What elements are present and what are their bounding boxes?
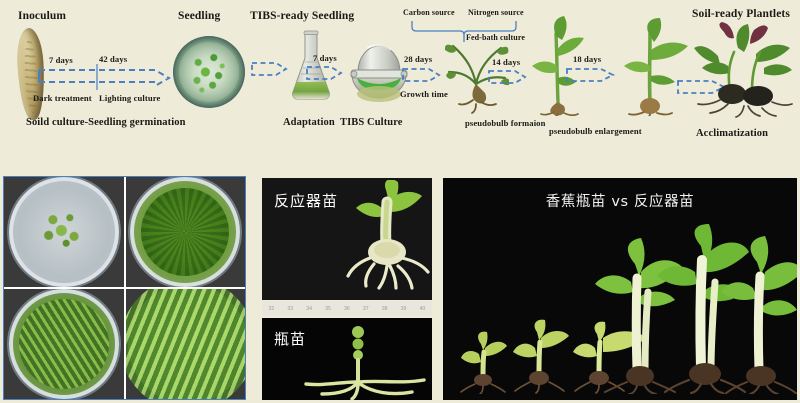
ruler-tick: 40 <box>420 306 426 312</box>
caption-pseudobulb-enlargement: pseudobulb enlargement <box>549 126 642 136</box>
comparison-plant-row <box>443 178 797 400</box>
plantlet-photo-pseudobulb-enlargement <box>620 18 690 116</box>
scale-ruler: 32 33 34 35 36 37 38 39 40 <box>262 301 432 316</box>
photo-panels: 反应器苗 32 33 34 <box>0 160 800 403</box>
duration-adaptation: 7 days <box>313 53 337 63</box>
dish-grid <box>4 177 245 399</box>
treatment-dark: Dark treatment <box>33 93 92 103</box>
label-nitrogen-source: Nitrogen source <box>468 8 524 17</box>
ruler-tick: 38 <box>382 306 388 312</box>
arrow-germination <box>37 64 173 92</box>
ruler-tick: 33 <box>287 306 293 312</box>
arrow-tibs-transfer <box>305 64 345 82</box>
dish-cell-stage-4 <box>126 289 246 399</box>
stage-label-seedling: Seedling <box>178 10 220 22</box>
ruler-tick: 35 <box>325 306 331 312</box>
bottle-seedling-photo <box>302 324 432 400</box>
comparison-panel: 香蕉瓶苗 vs 反应器苗 <box>443 178 797 400</box>
arrow-growth <box>401 66 443 84</box>
reactor-seedling-photo <box>340 180 432 298</box>
plantlet-small-1 <box>457 326 513 394</box>
culture-dish-photo <box>130 177 240 287</box>
culture-dish-panel <box>3 176 246 400</box>
arrow-enlargement <box>565 66 617 84</box>
treatment-lighting: Lighting culture <box>99 93 160 103</box>
bottle-seedling-panel: 瓶苗 <box>262 318 432 400</box>
caption-pseudobulb-formation: pseudobulb formaion <box>465 118 545 128</box>
dish-cell-stage-1 <box>4 177 124 287</box>
workflow-panel: Inoculum 7 days 42 days Dark treatment L… <box>0 0 800 160</box>
caption-acclimatization: Acclimatization <box>696 128 768 139</box>
duration-lighting-culture: 42 days <box>99 54 127 64</box>
culture-dish-photo <box>9 177 119 287</box>
duration-growth-time: 28 days <box>404 54 432 64</box>
duration-enlargement: 18 days <box>573 54 601 64</box>
ruler-tick: 34 <box>306 306 312 312</box>
dish-cell-stage-2 <box>126 177 246 287</box>
plantlet-large-3 <box>717 234 797 394</box>
dish-cell-stage-3 <box>4 289 124 399</box>
arrow-formation <box>487 68 529 86</box>
duration-formation: 14 days <box>492 57 520 67</box>
label-carbon-source: Carbon source <box>403 8 455 17</box>
soil-ready-plantlets-photo <box>694 22 794 123</box>
caption-adaptation: Adaptation <box>283 117 335 128</box>
reactor-seedling-panel: 反应器苗 <box>262 178 432 300</box>
seedling-dish-photo <box>173 36 245 108</box>
stage-label-soil-ready: Soil-ready Plantlets <box>692 8 790 20</box>
stage-label-inoculum: Inoculum <box>18 10 66 22</box>
caption-tibs-culture: TIBS Culture <box>340 117 403 128</box>
treatment-growth-time: Growth time <box>400 89 448 99</box>
ruler-tick: 32 <box>269 306 275 312</box>
stage-label-tibs-ready: TIBS-ready Seedling <box>250 10 354 22</box>
caption-solid-culture: Soild culture-Seedling germination <box>26 117 186 128</box>
plantlet-small-2 <box>511 318 573 394</box>
ruler-tick: 36 <box>344 306 350 312</box>
figure-root: Inoculum 7 days 42 days Dark treatment L… <box>0 0 800 403</box>
reactor-seedling-label: 反应器苗 <box>274 190 338 211</box>
culture-dish-photo <box>128 289 245 399</box>
arrow-adaptation <box>250 60 290 78</box>
ruler-tick: 39 <box>401 306 407 312</box>
ruler-tick: 37 <box>363 306 369 312</box>
culture-dish-photo <box>9 289 119 399</box>
